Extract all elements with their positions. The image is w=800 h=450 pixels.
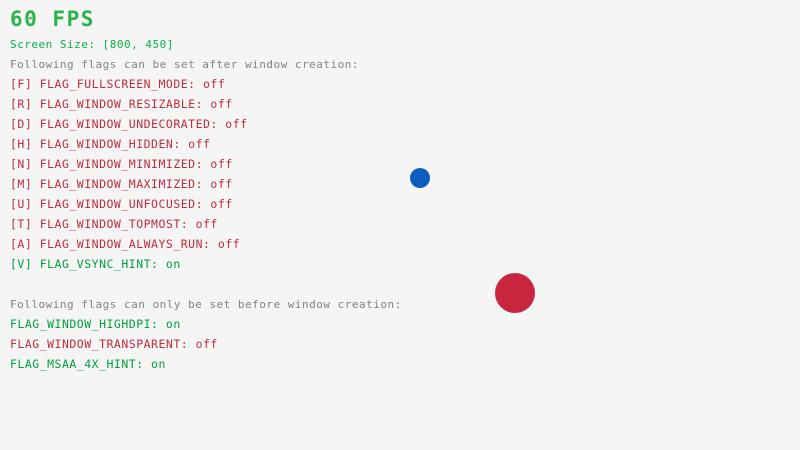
blue-ball <box>410 168 430 188</box>
section-heading-before-creation: Following flags can only be set before w… <box>10 299 402 310</box>
flag-row-window-topmost[interactable]: [T] FLAG_WINDOW_TOPMOST: off <box>10 219 218 231</box>
flag-row-window-maximized[interactable]: [M] FLAG_WINDOW_MAXIMIZED: off <box>10 179 233 191</box>
flag-row-window-hidden[interactable]: [H] FLAG_WINDOW_HIDDEN: off <box>10 139 210 151</box>
flag-row-window-always-run[interactable]: [A] FLAG_WINDOW_ALWAYS_RUN: off <box>10 239 240 251</box>
flag-row-window-highdpi: FLAG_WINDOW_HIGHDPI: on <box>10 319 181 331</box>
flag-row-vsync-hint[interactable]: [V] FLAG_VSYNC_HINT: on <box>10 259 181 271</box>
section-heading-after-creation: Following flags can be set after window … <box>10 59 359 70</box>
screen-size-label: Screen Size: [800, 450] <box>10 39 174 50</box>
flag-row-fullscreen-mode[interactable]: [F] FLAG_FULLSCREEN_MODE: off <box>10 79 225 91</box>
flag-row-window-undecorated[interactable]: [D] FLAG_WINDOW_UNDECORATED: off <box>10 119 248 131</box>
flag-row-window-transparent: FLAG_WINDOW_TRANSPARENT: off <box>10 339 218 351</box>
fps-counter: 60 FPS <box>10 9 95 30</box>
flag-row-msaa-4x-hint: FLAG_MSAA_4X_HINT: on <box>10 359 166 371</box>
flag-row-window-minimized[interactable]: [N] FLAG_WINDOW_MINIMIZED: off <box>10 159 233 171</box>
red-ball <box>495 273 535 313</box>
raylib-window-canvas: 60 FPS Screen Size: [800, 450] Following… <box>0 0 800 450</box>
flag-row-window-resizable[interactable]: [R] FLAG_WINDOW_RESIZABLE: off <box>10 99 233 111</box>
flag-row-window-unfocused[interactable]: [U] FLAG_WINDOW_UNFOCUSED: off <box>10 199 233 211</box>
